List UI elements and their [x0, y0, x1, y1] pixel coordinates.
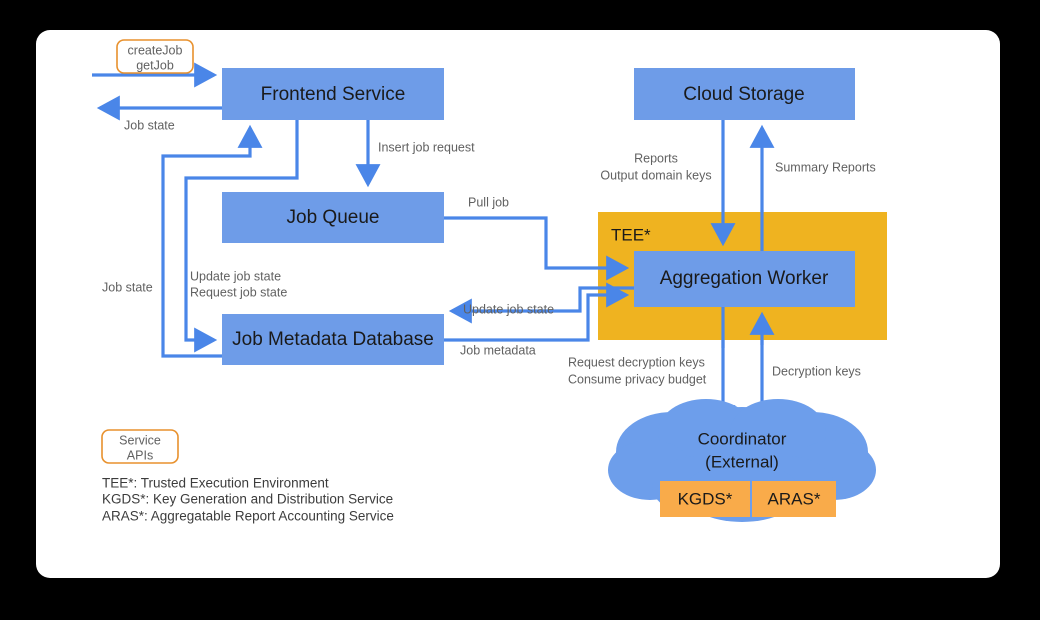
- label-request-job-state: Request job state: [190, 285, 287, 299]
- frontend-service-label: Frontend Service: [261, 84, 406, 105]
- label-job-state-out: Job state: [124, 118, 175, 132]
- cloud-storage-label: Cloud Storage: [683, 84, 804, 105]
- label-output-domain-keys: Output domain keys: [600, 168, 711, 182]
- legend-service-api-box[interactable]: Service APIs: [102, 430, 178, 463]
- diagram-root: TEE* Coor: [0, 0, 1040, 620]
- label-consume-privacy-budget: Consume privacy budget: [568, 372, 707, 386]
- coordinator-label: Coordinator: [698, 429, 787, 448]
- label-pull-job: Pull job: [468, 195, 509, 209]
- kgds-label: KGDS*: [678, 489, 733, 508]
- node-job-queue[interactable]: Job Queue: [222, 192, 444, 243]
- tee-label: TEE*: [611, 225, 651, 244]
- label-reports: Reports: [634, 151, 678, 165]
- legend-api-box-line2: APIs: [127, 448, 153, 462]
- api-box-line1: createJob: [128, 43, 183, 57]
- label-job-metadata: Job metadata: [460, 343, 536, 357]
- coordinator-sublabel: (External): [705, 452, 779, 471]
- node-cloud-storage[interactable]: Cloud Storage: [634, 68, 855, 120]
- aggregation-worker-label: Aggregation Worker: [660, 268, 829, 289]
- label-decryption-keys: Decryption keys: [772, 364, 861, 378]
- job-queue-label: Job Queue: [287, 207, 380, 228]
- aras-label: ARAS*: [768, 489, 821, 508]
- legend-definition-tee: TEE*: Trusted Execution Environment: [102, 476, 329, 491]
- label-update-job-state-right: Update job state: [463, 302, 554, 316]
- label-summary-reports: Summary Reports: [775, 160, 876, 174]
- aras-box[interactable]: ARAS*: [752, 481, 836, 517]
- api-call-box[interactable]: createJob getJob: [117, 40, 193, 73]
- legend-definition-aras: ARAS*: Aggregatable Report Accounting Se…: [102, 509, 394, 524]
- node-frontend-service[interactable]: Frontend Service: [222, 68, 444, 120]
- coordinator-cloud: Coordinator (External) KGDS* ARAS*: [608, 399, 876, 522]
- legend-definition-kgds: KGDS*: Key Generation and Distribution S…: [102, 492, 393, 507]
- legend-api-box-line1: Service: [119, 433, 161, 447]
- node-job-metadata-database[interactable]: Job Metadata Database: [222, 314, 444, 365]
- label-insert-job-request: Insert job request: [378, 140, 475, 154]
- label-request-decryption-keys: Request decryption keys: [568, 355, 705, 369]
- label-job-state-left: Job state: [102, 280, 153, 294]
- label-update-job-state: Update job state: [190, 269, 281, 283]
- job-metadata-database-label: Job Metadata Database: [232, 329, 434, 350]
- node-aggregation-worker[interactable]: Aggregation Worker: [634, 251, 855, 307]
- architecture-diagram: TEE* Coor: [0, 0, 1040, 620]
- legend: Service APIs TEE*: Trusted Execution Env…: [102, 430, 394, 524]
- api-box-line2: getJob: [136, 58, 174, 72]
- kgds-box[interactable]: KGDS*: [660, 481, 750, 517]
